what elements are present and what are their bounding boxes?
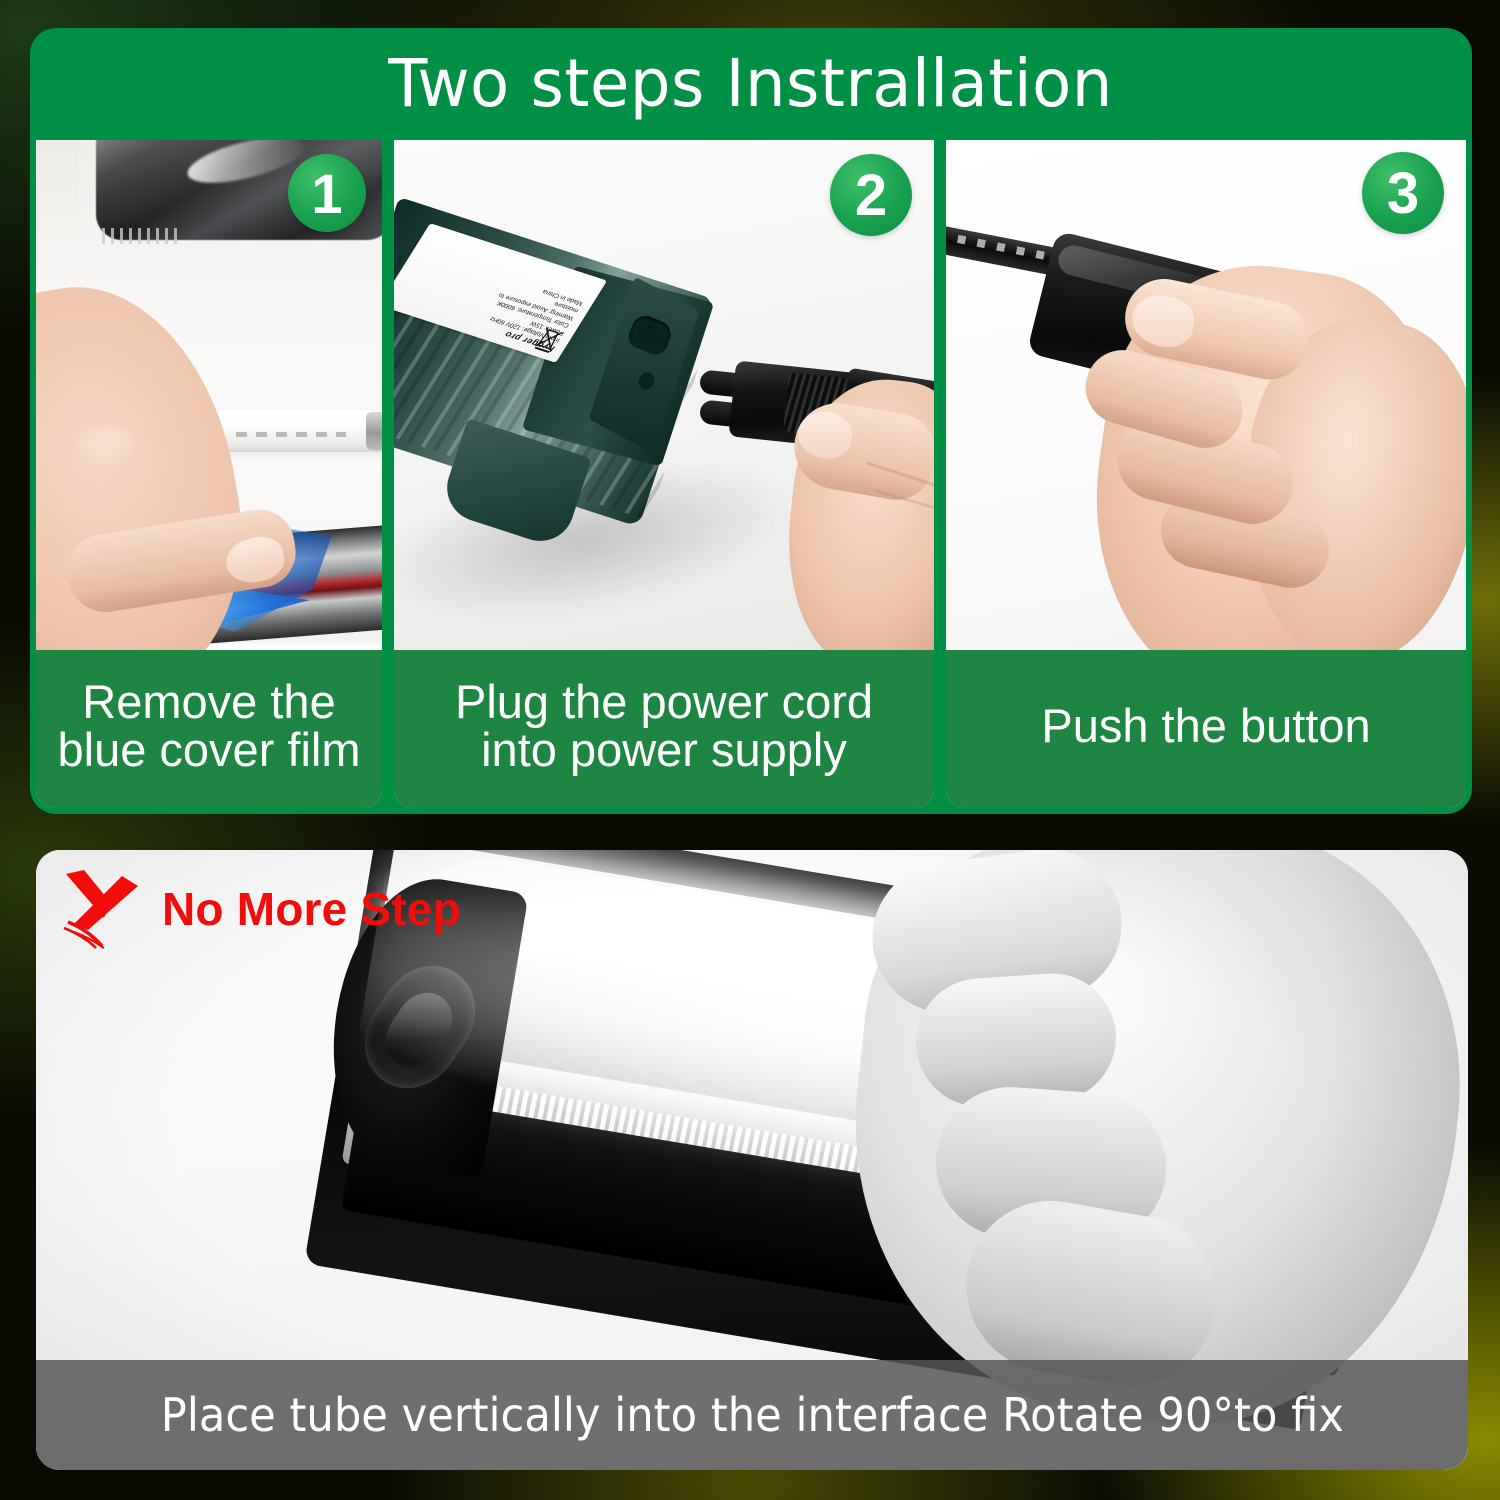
step-1-caption-line-1: Remove the xyxy=(82,678,335,726)
step-2-caption: Plug the power cord into power supply xyxy=(394,650,934,808)
spare-tube-print xyxy=(236,432,346,437)
step-panel-3: 3 Push the button xyxy=(946,140,1466,808)
step-3-caption-line-1: Push the button xyxy=(1041,702,1370,750)
step-2-caption-line-1: Plug the power cord xyxy=(455,678,873,726)
step-1-photo: 1 xyxy=(36,140,382,650)
no-more-step-banner: No More Step xyxy=(58,868,461,950)
no-more-step-text: No More Step xyxy=(162,882,461,936)
steps-card: Two steps Instrallation xyxy=(30,28,1472,814)
step-2-caption-line-2: into power supply xyxy=(481,726,847,774)
step-3-caption: Push the button xyxy=(946,650,1466,808)
step-panel-2: hygger pro Input Voltage: 120V 60Hz Powe… xyxy=(394,140,934,808)
bottom-caption-text: Place tube vertically into the interface… xyxy=(160,1392,1343,1438)
step-number-badge-2: 2 xyxy=(830,154,912,236)
spare-tube-endcap xyxy=(366,412,382,450)
steps-panel-group: 1 Remove the blue cover film xyxy=(36,140,1466,808)
step-2-photo: hygger pro Input Voltage: 120V 60Hz Powe… xyxy=(394,140,934,650)
bottom-caption-bar: Place tube vertically into the interface… xyxy=(36,1360,1468,1470)
infographic-root: Two steps Instrallation xyxy=(0,0,1500,1500)
no-more-step-card: No More Step Place tube vertically into … xyxy=(36,850,1468,1470)
page-title: Two steps Instrallation xyxy=(389,51,1114,117)
step-number-badge-3: 3 xyxy=(1362,152,1444,234)
step-3-photo: 3 xyxy=(946,140,1466,650)
red-cross-icon xyxy=(58,868,146,950)
accessory-bag-tag xyxy=(102,228,182,244)
step-number-badge-1: 1 xyxy=(288,154,366,232)
title-bar: Two steps Instrallation xyxy=(30,28,1472,140)
hand-knuckle-highlight xyxy=(74,426,140,466)
step-1-caption-line-2: blue cover film xyxy=(58,726,361,774)
step-1-caption: Remove the blue cover film xyxy=(36,650,382,808)
step-panel-1: 1 Remove the blue cover film xyxy=(36,140,382,808)
